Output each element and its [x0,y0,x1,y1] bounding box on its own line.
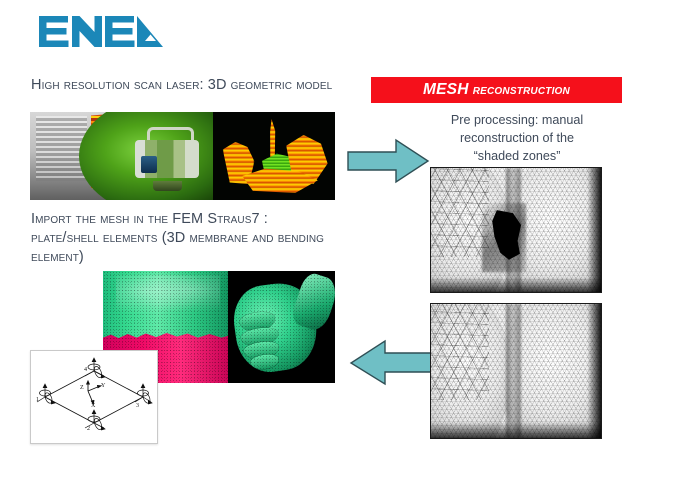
fem-element-diagram-icon: Z Y X 4 1 3 2 [31,351,157,443]
enea-logo-icon [38,13,164,53]
enea-logo [38,13,164,53]
mesh-banner-text: MESH reconstruction [423,81,570,99]
scanner-base [153,181,182,191]
scan-point-cloud-city [213,112,335,200]
node-label-1: 1 [36,397,39,403]
fem-element-diagram: Z Y X 4 1 3 2 [30,350,158,444]
slide-canvas: High resolution scan laser: 3D geometric… [0,0,700,496]
laser-scanner-device [131,126,204,191]
arrow-right-icon [346,138,432,184]
mesh-shadow-bottom [431,277,601,292]
mesh-triangles-coarse [431,304,489,400]
scan-city-panel [213,112,335,200]
mesh-banner-emphasis: MESH [423,81,469,98]
mesh-shadow-right [587,304,601,438]
import-mesh-title: Import the mesh in the FEM Straus7 : pla… [31,210,336,267]
mesh-reconstruction-banner: MESH reconstruction [371,77,622,103]
node-label-3: 3 [136,403,139,409]
mesh-banner-rest: reconstruction [469,81,570,97]
axis-label-x: X [91,403,96,409]
mesh-photo-with-holes [430,167,602,293]
fem-hand-panel [228,271,335,383]
scanner-display [141,156,157,173]
node-label-2: 2 [87,426,90,432]
mesh-shadow-bottom [431,422,601,438]
arrow-left-icon [347,339,439,387]
laser-scan-image [30,112,335,200]
axis-label-y: Y [101,383,106,389]
mesh-shadow-right [587,168,601,292]
scan-title: High resolution scan laser: 3D geometric… [31,76,332,95]
axis-label-z: Z [80,385,84,391]
pre-processing-caption: Pre processing: manual reconstruction of… [424,112,610,166]
fem-torso-shading [116,275,220,315]
mesh-triangles-coarse [431,168,489,257]
mesh-photo-reconstructed [430,303,602,439]
node-label-4: 4 [84,367,87,373]
